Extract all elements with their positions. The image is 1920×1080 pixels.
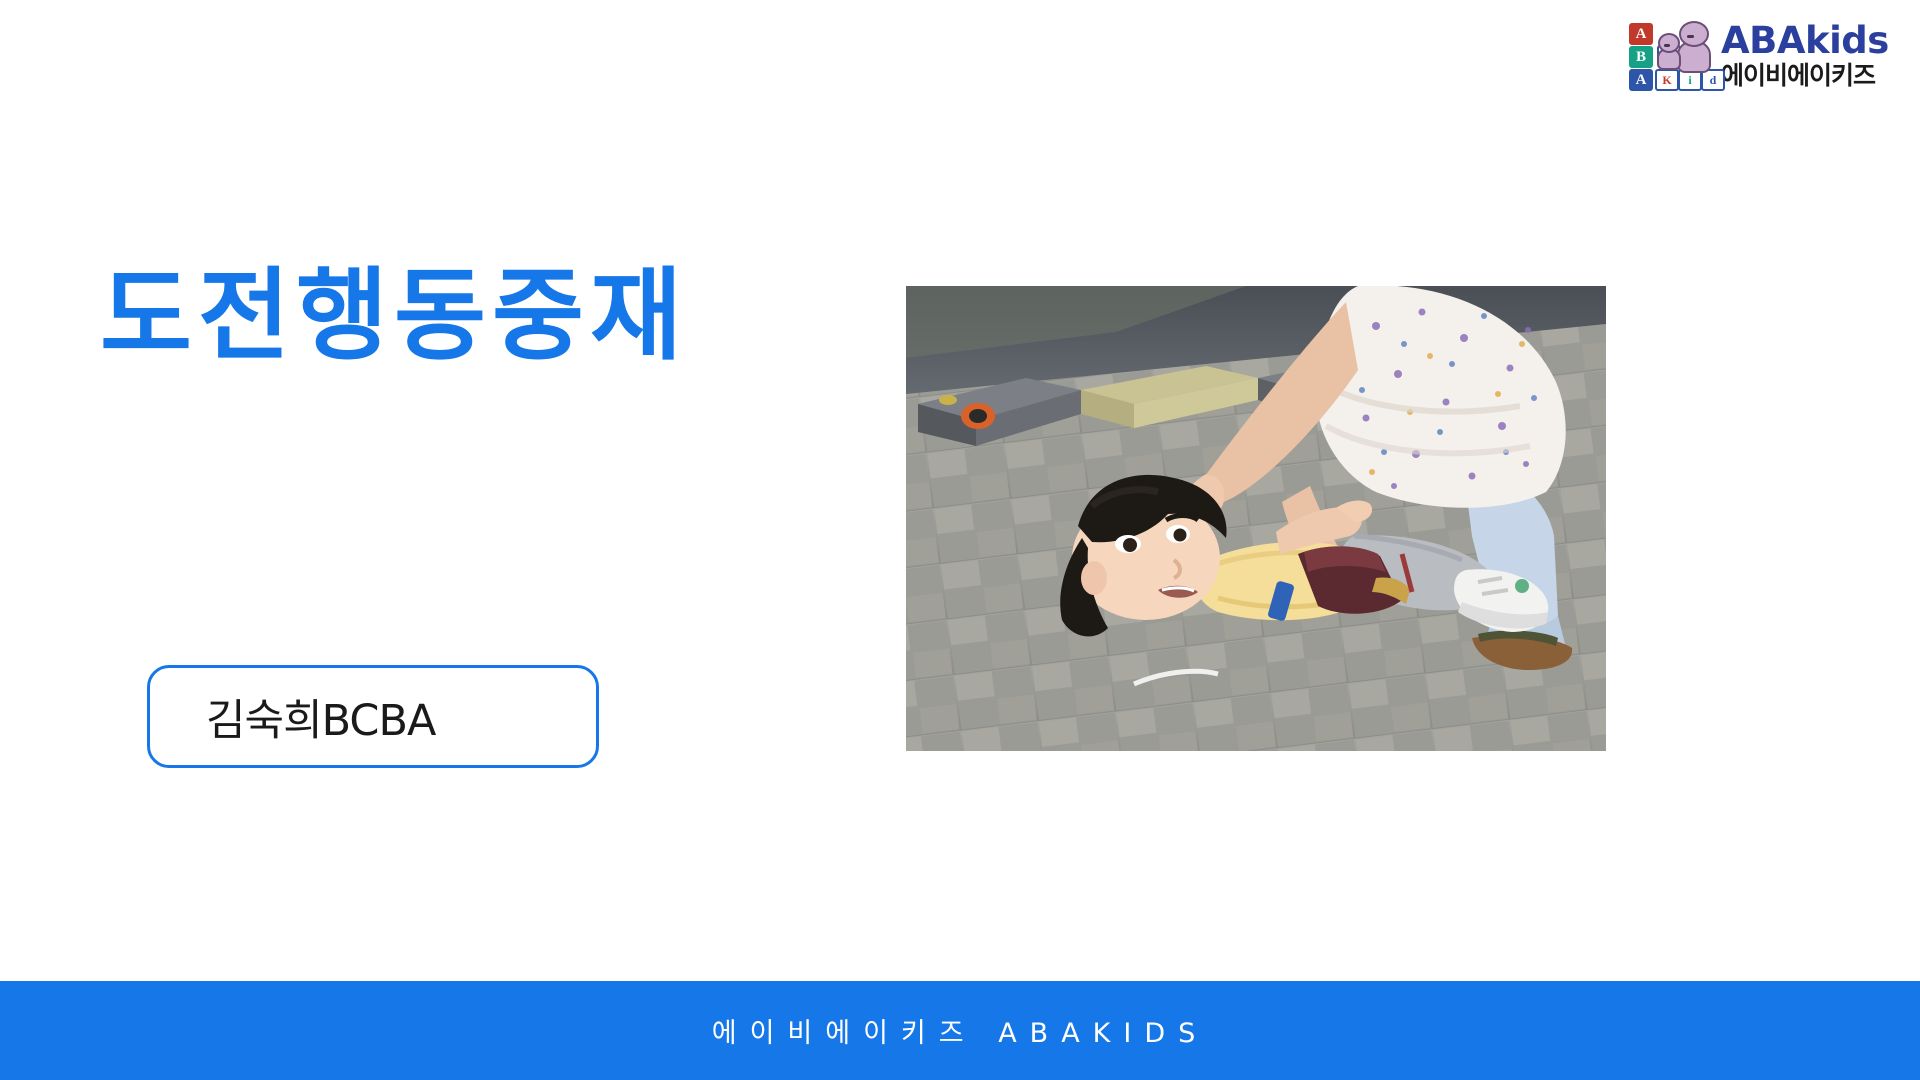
slide-root: A B A K i d ABAkids 에이비에이키즈 도전행동중재 김숙희BC…	[0, 0, 1920, 1080]
hero-photo-illustration	[906, 286, 1606, 751]
logo-korean-text: 에이비에이키즈	[1721, 63, 1889, 88]
hero-photo	[906, 286, 1606, 751]
abakids-logo[interactable]: A B A K i d ABAkids 에이비에이키즈	[1627, 16, 1889, 94]
page-title: 도전행동중재	[100, 258, 688, 373]
logo-block-a-blue: A	[1629, 69, 1653, 91]
logo-english-text: ABAkids	[1721, 22, 1889, 59]
logo-mark-icon: A B A K i d	[1627, 17, 1713, 93]
logo-child-eye-icon	[1664, 44, 1670, 47]
logo-child-figure-head-icon	[1658, 33, 1680, 53]
presenter-badge[interactable]: 김숙희BCBA	[147, 665, 599, 768]
logo-text-group: ABAkids 에이비에이키즈	[1721, 22, 1889, 88]
logo-block-b-teal: B	[1629, 46, 1653, 68]
footer-brand-text: 에이비에이키즈 ABAKIDS	[712, 1011, 1209, 1050]
logo-block-k: K	[1655, 69, 1679, 91]
logo-adult-eye-icon	[1687, 35, 1694, 38]
logo-block-a-red: A	[1629, 23, 1653, 45]
presenter-name-label: 김숙희BCBA	[206, 686, 435, 748]
logo-adult-figure-head-icon	[1679, 21, 1709, 47]
footer-bar: 에이비에이키즈 ABAKIDS	[0, 981, 1920, 1080]
